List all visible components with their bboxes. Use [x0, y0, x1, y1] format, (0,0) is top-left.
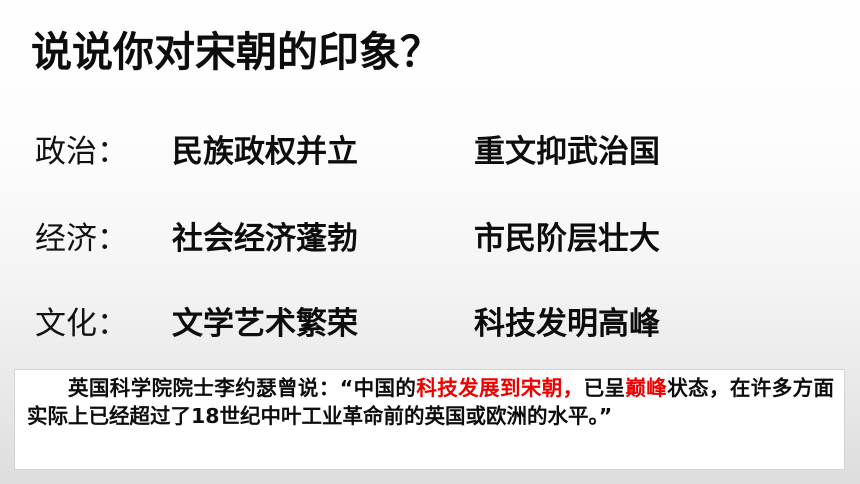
row-label-politics: 政治：: [35, 129, 128, 175]
slide-canvas: 说说你对宋朝的印象？ 政治： 民族政权并立 重文抑武治国 经济： 社会经济蓬勃 …: [0, 0, 860, 484]
quote-text: 英国科学院院士李约瑟曾说：“中国的科技发展到宋朝，已呈巅峰状态，在许多方面实际上…: [27, 374, 834, 430]
row-value-economy-right: 市民阶层壮大: [474, 216, 660, 262]
row-value-culture-left: 文学艺术繁荣: [172, 301, 358, 347]
row-value-politics-right: 重文抑武治国: [474, 129, 660, 175]
content-row-politics: 政治： 民族政权并立 重文抑武治国: [0, 129, 860, 181]
content-row-economy: 经济： 社会经济蓬勃 市民阶层壮大: [0, 216, 860, 268]
row-label-economy: 经济：: [35, 216, 128, 262]
quote-segment-2: 已呈: [584, 376, 626, 400]
row-label-culture: 文化：: [35, 301, 128, 347]
page-title: 说说你对宋朝的印象？: [31, 27, 441, 77]
quote-highlight-3: 巅峰: [625, 376, 667, 400]
row-value-politics-left: 民族政权并立: [172, 129, 358, 175]
quote-highlight-1: 科技发展到宋朝，: [416, 376, 583, 400]
row-value-economy-left: 社会经济蓬勃: [172, 216, 358, 262]
quote-callout-box: 英国科学院院士李约瑟曾说：“中国的科技发展到宋朝，已呈巅峰状态，在许多方面实际上…: [14, 369, 845, 470]
row-value-culture-right: 科技发明高峰: [474, 301, 660, 347]
quote-segment-0: 英国科学院院士李约瑟曾说：“中国的: [68, 376, 416, 400]
content-row-culture: 文化： 文学艺术繁荣 科技发明高峰: [0, 301, 860, 353]
